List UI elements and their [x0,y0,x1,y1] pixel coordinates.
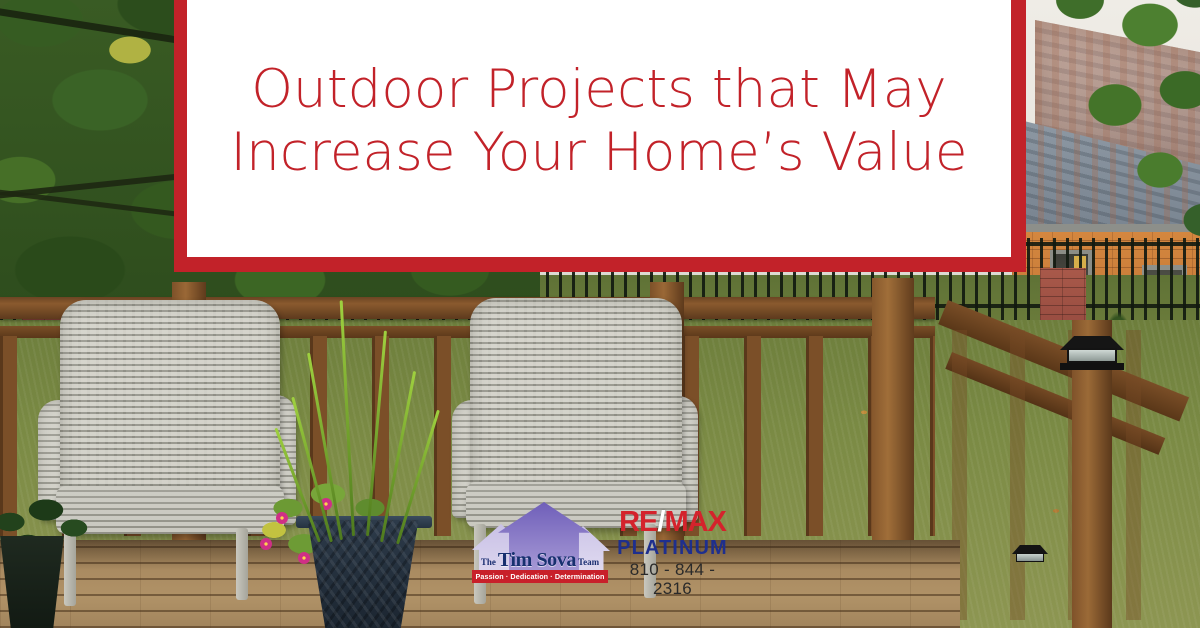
promo-banner: Outdoor Projects that May Increase Your … [0,0,1200,628]
remax-max-text: MAX [664,506,725,538]
remax-platinum-logo[interactable]: RE/MAX PLATINUM 810 - 844 - 2316 [610,508,735,588]
tim-sova-team-logo[interactable]: The Tim Sova Team Passion · Dedication ·… [470,500,610,588]
remax-re-text: RE [619,506,657,538]
page-title: Outdoor Projects that May Increase Your … [204,59,993,198]
logo-name-text: Tim Sova [498,550,576,570]
phone-number[interactable]: 810 - 844 - 2316 [610,561,735,598]
headline-card: Outdoor Projects that May Increase Your … [174,0,1026,272]
solar-post-lamp-icon [1060,336,1124,370]
tim-sova-wordmark: The Tim Sova Team [470,544,610,570]
branding-group: The Tim Sova Team Passion · Dedication ·… [470,500,730,592]
remax-sub-brand: PLATINUM [610,538,735,559]
logo-the-text: The [481,558,496,570]
logo-team-text: Team [578,558,599,570]
tree-foliage-right [1020,0,1200,270]
logo-tagline: Passion · Dedication · Determination [472,570,608,583]
remax-wordmark: RE/MAX [610,508,735,537]
deck-post [872,278,914,568]
ornamental-grass-right [918,470,1038,628]
